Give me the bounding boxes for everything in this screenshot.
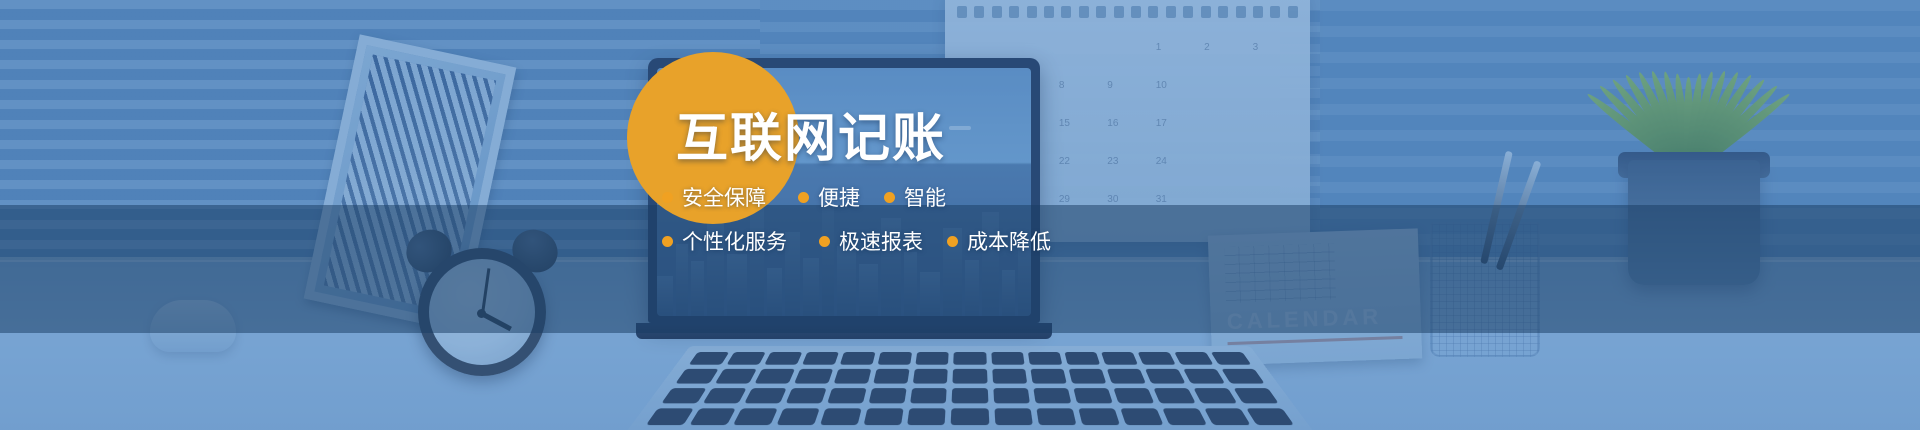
- bullet-dot-icon: [819, 236, 830, 247]
- feature-item: 便捷: [798, 182, 860, 212]
- feature-row: 个性化服务极速报表成本降低: [662, 226, 1062, 256]
- feature-item: 智能: [884, 182, 946, 212]
- feature-row: 安全保障便捷智能: [662, 182, 1062, 212]
- bullet-dot-icon: [662, 236, 673, 247]
- feature-label: 智能: [904, 182, 946, 212]
- bullet-dot-icon: [884, 192, 895, 203]
- feature-list: 安全保障便捷智能个性化服务极速报表成本降低: [662, 182, 1062, 270]
- banner-headline: 互联网记账: [676, 96, 946, 171]
- feature-item: 极速报表: [819, 226, 923, 256]
- bullet-dot-icon: [662, 192, 673, 203]
- feature-label: 安全保障: [682, 182, 766, 212]
- feature-label: 便捷: [818, 182, 860, 212]
- feature-item: 个性化服务: [662, 226, 787, 256]
- feature-label: 极速报表: [839, 226, 923, 256]
- banner-content: 互联网记账 安全保障便捷智能个性化服务极速报表成本降低: [0, 0, 1920, 430]
- bullet-dot-icon: [947, 236, 958, 247]
- feature-label: 个性化服务: [682, 226, 787, 256]
- feature-item: 安全保障: [662, 182, 766, 212]
- feature-item: 成本降低: [947, 226, 1051, 256]
- bullet-dot-icon: [798, 192, 809, 203]
- feature-label: 成本降低: [967, 226, 1051, 256]
- promo-banner: 123678910131415161720212223242728293031 …: [0, 0, 1920, 430]
